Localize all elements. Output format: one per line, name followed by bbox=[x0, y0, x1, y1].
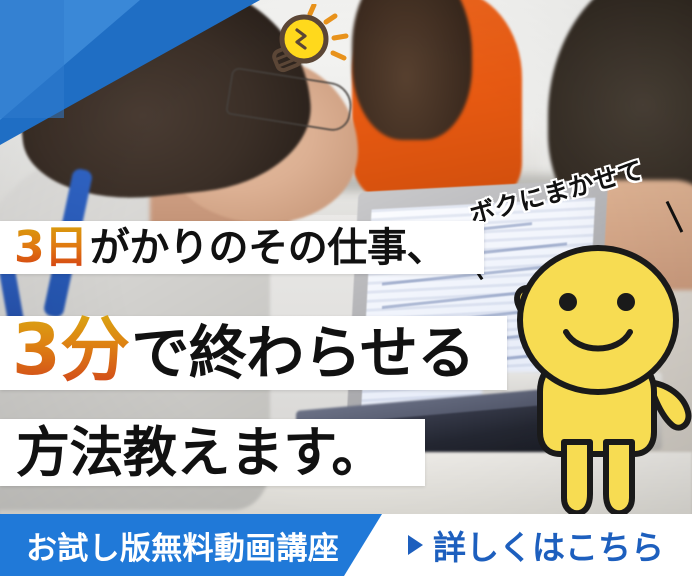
headline-line-3: 方法教えます。 bbox=[0, 419, 425, 486]
details-cta-button[interactable]: 詳しくはこちら bbox=[408, 514, 664, 576]
headline-2-rest: で終わらせる bbox=[131, 324, 474, 382]
lightbulb-icon bbox=[258, 4, 354, 82]
headline-1-highlight: 3日 bbox=[14, 226, 88, 270]
ad-banner: ボクにまかせて 3日 がかりのその仕事、 3分 で終わらせる 方法教えます。 お… bbox=[0, 0, 692, 576]
headline-line-2: 3分 で終わらせる bbox=[0, 316, 507, 390]
bottom-cta-bar: お試し版無料動画講座 詳しくはこちら bbox=[0, 514, 692, 576]
mascot-eye-right bbox=[617, 293, 635, 311]
triangle-right-icon bbox=[408, 535, 423, 555]
mascot-eye-left bbox=[559, 293, 577, 311]
headline-1-rest: がかりのその仕事、 bbox=[90, 228, 446, 268]
mascot-character bbox=[498, 236, 692, 518]
corner-accent-shape-overlay bbox=[0, 0, 64, 118]
headline-3-text: 方法教えます。 bbox=[16, 426, 385, 480]
headline-line-1: 3日 がかりのその仕事、 bbox=[0, 221, 484, 274]
free-trial-badge-label: お試し版無料動画講座 bbox=[26, 514, 339, 576]
details-cta-label: 詳しくはこちら bbox=[433, 521, 664, 569]
headline-2-highlight: 3分 bbox=[12, 315, 129, 385]
